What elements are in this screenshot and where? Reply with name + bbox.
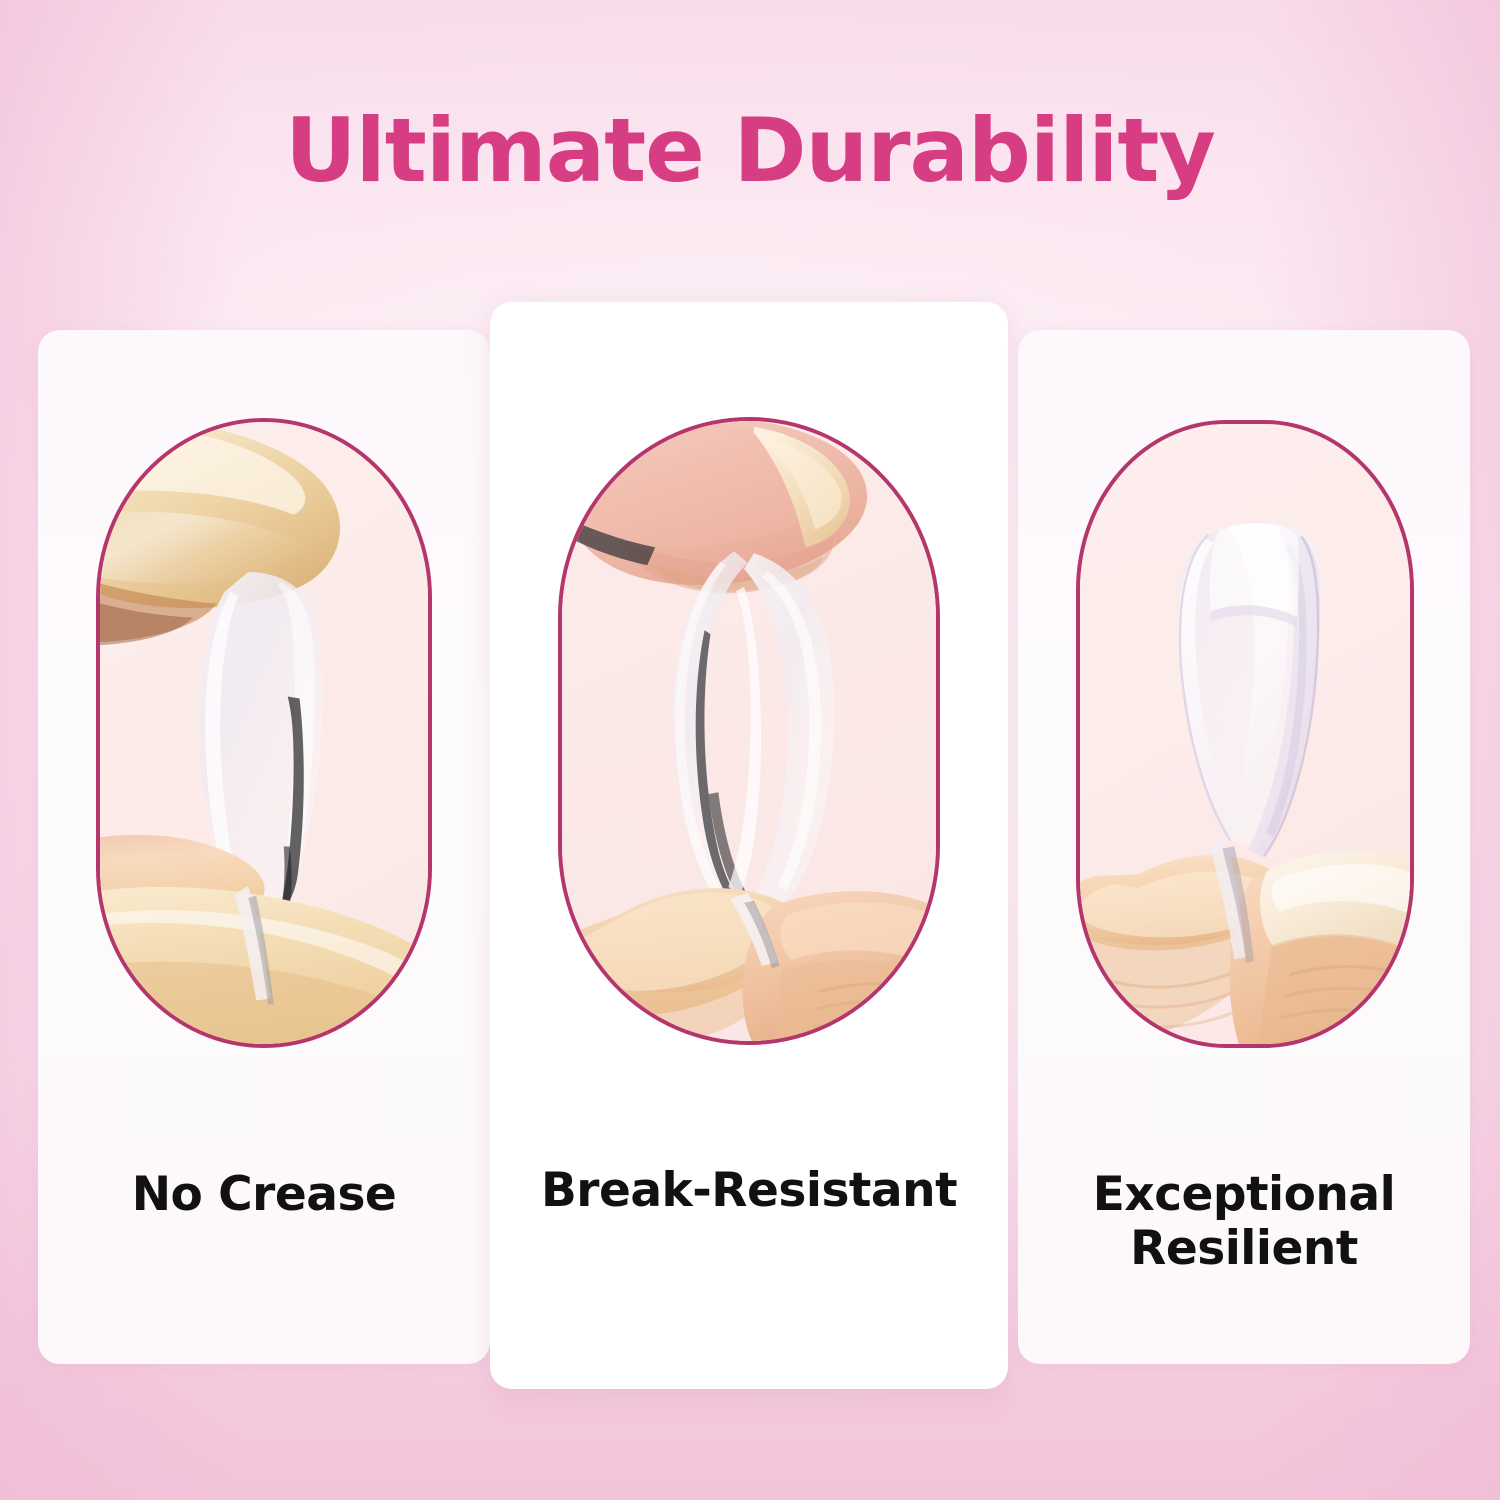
caption-line: Break-Resistant bbox=[490, 1164, 1008, 1218]
feature-card-break-resistant[interactable]: Break-Resistant bbox=[490, 302, 1008, 1389]
card-caption-no-crease: No Crease bbox=[38, 1168, 490, 1222]
photo-exceptional-resilient bbox=[1080, 424, 1410, 1044]
card-caption-exceptional-resilient: Exceptional Resilient bbox=[1018, 1168, 1470, 1275]
image-frame-no-crease bbox=[96, 418, 432, 1048]
card-caption-break-resistant: Break-Resistant bbox=[490, 1164, 1008, 1218]
feature-card-no-crease[interactable]: No Crease bbox=[38, 330, 490, 1364]
photo-break-resistant bbox=[562, 421, 936, 1041]
image-frame-exceptional-resilient bbox=[1076, 420, 1414, 1048]
image-frame-break-resistant bbox=[558, 417, 940, 1045]
caption-line: Exceptional bbox=[1018, 1168, 1470, 1222]
caption-line: No Crease bbox=[38, 1168, 490, 1222]
feature-card-exceptional-resilient[interactable]: Exceptional Resilient bbox=[1018, 330, 1470, 1364]
photo-no-crease bbox=[100, 422, 428, 1044]
feature-card-row: No Crease bbox=[0, 0, 1500, 1500]
caption-line: Resilient bbox=[1018, 1222, 1470, 1276]
